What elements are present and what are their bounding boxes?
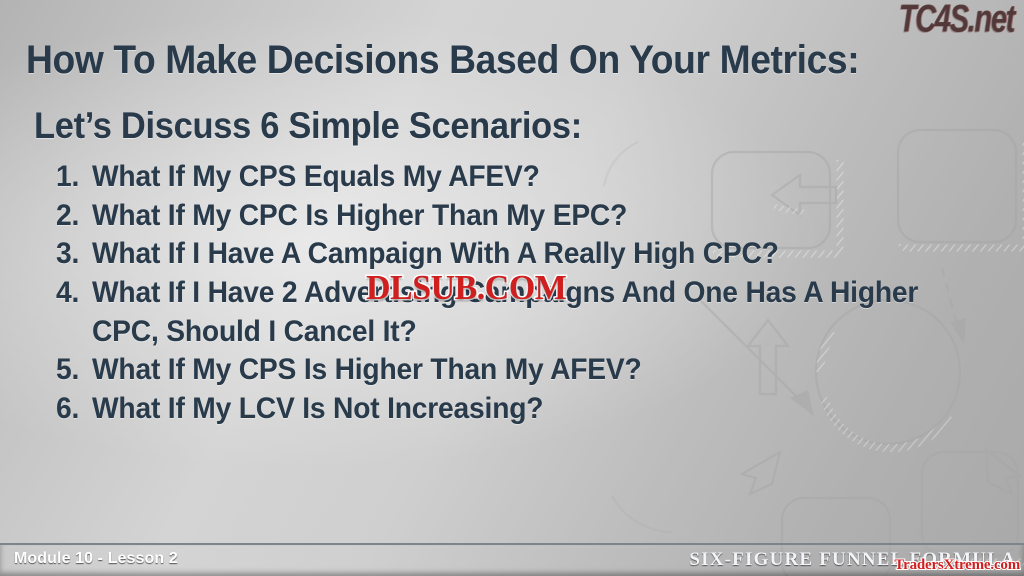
list-item: 2. What If My CPC Is Higher Than My EPC?	[56, 197, 996, 236]
lesson-label: Module 10 - Lesson 2	[14, 550, 178, 568]
list-item-label: What If My CPS Is Higher Than My AFEV?	[92, 351, 942, 390]
list-item-label: What If My CPS Equals My AFEV?	[92, 158, 942, 197]
watermark-tc4s: TC4S.net	[899, 0, 1014, 41]
slide-canvas: TC4S.net How To Make Decisions Based On …	[0, 0, 1024, 576]
list-item-label: What If My CPC Is Higher Than My EPC?	[92, 197, 942, 236]
list-item-number: 4.	[56, 274, 90, 313]
scenario-list: 1. What If My CPS Equals My AFEV? 2. Wha…	[56, 158, 996, 429]
page-title: How To Make Decisions Based On Your Metr…	[26, 38, 859, 83]
list-item: 3. What If I Have A Campaign With A Real…	[56, 235, 996, 274]
list-item-label: What If My LCV Is Not Increasing?	[92, 390, 942, 429]
list-item: 6. What If My LCV Is Not Increasing?	[56, 390, 996, 429]
list-item: 1. What If My CPS Equals My AFEV?	[56, 158, 996, 197]
list-item-number: 5.	[56, 351, 90, 390]
list-item-label: What If I Have 2 Advertising Campaigns A…	[92, 274, 942, 351]
page-subtitle: Let’s Discuss 6 Simple Scenarios:	[34, 105, 582, 147]
list-item-number: 1.	[56, 158, 90, 197]
footer-bar: Module 10 - Lesson 2 SIX-FIGURE FUNNEL F…	[0, 543, 1024, 576]
list-item-label: What If I Have A Campaign With A Really …	[92, 235, 942, 274]
list-item-number: 2.	[56, 197, 90, 236]
list-item: 5. What If My CPS Is Higher Than My AFEV…	[56, 351, 996, 390]
list-item: 4. What If I Have 2 Advertising Campaign…	[56, 274, 996, 351]
brand-label: SIX-FIGURE FUNNEL FORMULA	[689, 549, 1016, 571]
list-item-number: 6.	[56, 390, 90, 429]
list-item-number: 3.	[56, 235, 90, 274]
